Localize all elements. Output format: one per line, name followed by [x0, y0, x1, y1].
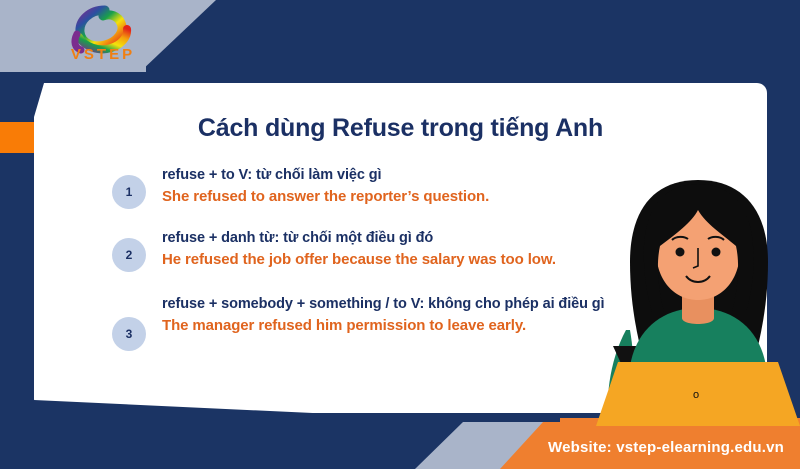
- page-title: Cách dùng Refuse trong tiếng Anh: [34, 114, 767, 143]
- list-item-number-badge: 2: [112, 238, 146, 272]
- logo-text: VSTEP: [63, 46, 143, 63]
- list-item-example: He refused the job offer because the sal…: [162, 250, 657, 270]
- woman-with-laptop-illustration: o: [596, 176, 800, 426]
- list-item-rule: refuse + somebody + something / to V: kh…: [162, 295, 617, 314]
- laptop-logo-mark: o: [693, 389, 699, 401]
- list-item: 2 refuse + danh từ: từ chối một điều gì …: [112, 229, 657, 270]
- list-item-number-badge: 1: [112, 175, 146, 209]
- footer-website: Website: vstep-elearning.edu.vn: [548, 439, 784, 456]
- list-item-number-badge: 3: [112, 317, 146, 351]
- footer-bar: Website: vstep-elearning.edu.vn: [0, 422, 800, 469]
- usage-list: 1 refuse + to V: từ chối làm việc gì She…: [112, 166, 657, 353]
- vstep-logo: VSTEP: [55, 4, 150, 70]
- list-item: 1 refuse + to V: từ chối làm việc gì She…: [112, 166, 657, 207]
- list-item-rule: refuse + to V: từ chối làm việc gì: [162, 166, 657, 185]
- list-item-example: The manager refused him permission to le…: [162, 316, 657, 336]
- list-item-example: She refused to answer the reporter’s que…: [162, 187, 657, 207]
- list-item: 3 refuse + somebody + something / to V: …: [112, 295, 657, 336]
- eye-right: [712, 248, 721, 257]
- list-item-rule: refuse + danh từ: từ chối một điều gì đó: [162, 229, 657, 248]
- eye-left: [676, 248, 685, 257]
- infographic-canvas: VSTEP Cách dùng Refuse trong tiếng Anh 1…: [0, 0, 800, 469]
